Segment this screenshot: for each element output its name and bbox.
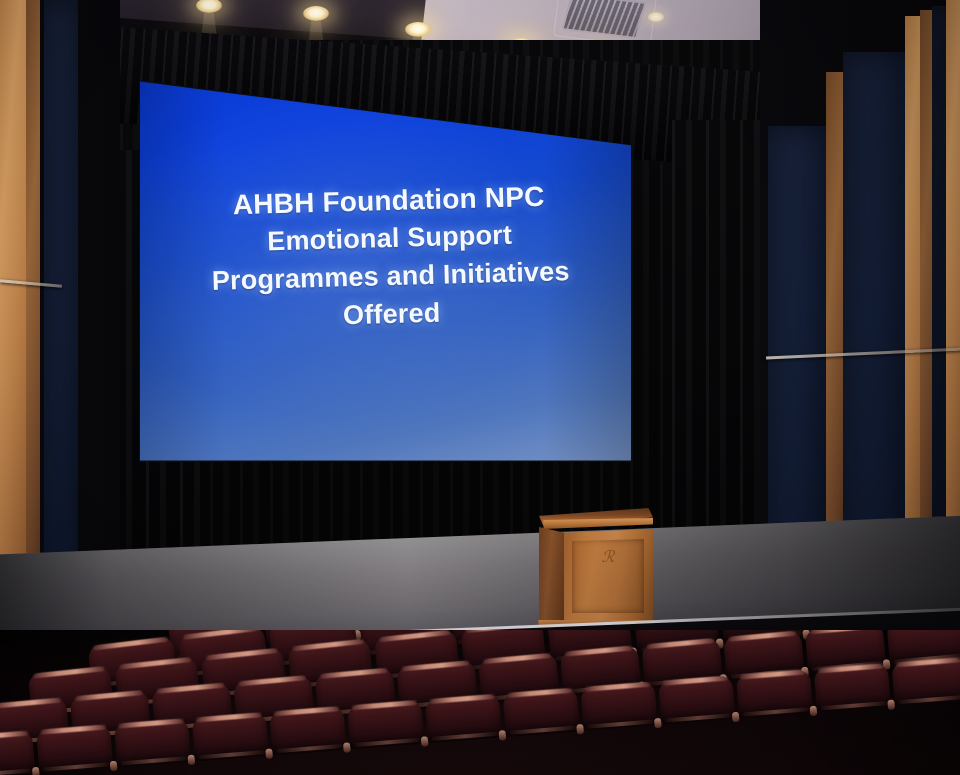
auditorium-seat[interactable] bbox=[425, 694, 502, 744]
ceiling-spot-vent-side bbox=[648, 12, 664, 22]
wall-left-wood-strip-outer bbox=[0, 0, 26, 640]
podium-side-panel bbox=[539, 527, 565, 625]
auditorium-seat[interactable] bbox=[114, 718, 191, 768]
auditorium-seat[interactable] bbox=[580, 681, 657, 731]
podium-emblem-icon: ℛ bbox=[599, 548, 617, 568]
auditorium-seat[interactable] bbox=[814, 663, 891, 713]
wall-left-wood-strip-inner bbox=[26, 0, 40, 640]
auditorium-scene: AHBH Foundation NPC Emotional Support Pr… bbox=[0, 0, 960, 775]
auditorium-seat[interactable] bbox=[347, 700, 424, 750]
auditorium-seat[interactable] bbox=[36, 724, 113, 774]
slide-text-block: AHBH Foundation NPC Emotional Support Pr… bbox=[165, 175, 615, 340]
auditorium-seat[interactable] bbox=[0, 730, 35, 775]
auditorium-seat[interactable] bbox=[736, 669, 813, 719]
auditorium-seat[interactable] bbox=[891, 657, 960, 707]
auditorium-seat[interactable] bbox=[658, 675, 735, 725]
audience-seating bbox=[0, 630, 960, 775]
auditorium-seat[interactable] bbox=[192, 712, 269, 762]
ceiling-downlight-3 bbox=[405, 22, 431, 37]
wall-left-acoustic-panel bbox=[44, 0, 78, 636]
auditorium-seat[interactable] bbox=[503, 687, 580, 737]
ceiling-downlight-2 bbox=[303, 6, 329, 21]
auditorium-seat[interactable] bbox=[269, 706, 346, 756]
podium[interactable]: ℛ bbox=[537, 508, 655, 633]
